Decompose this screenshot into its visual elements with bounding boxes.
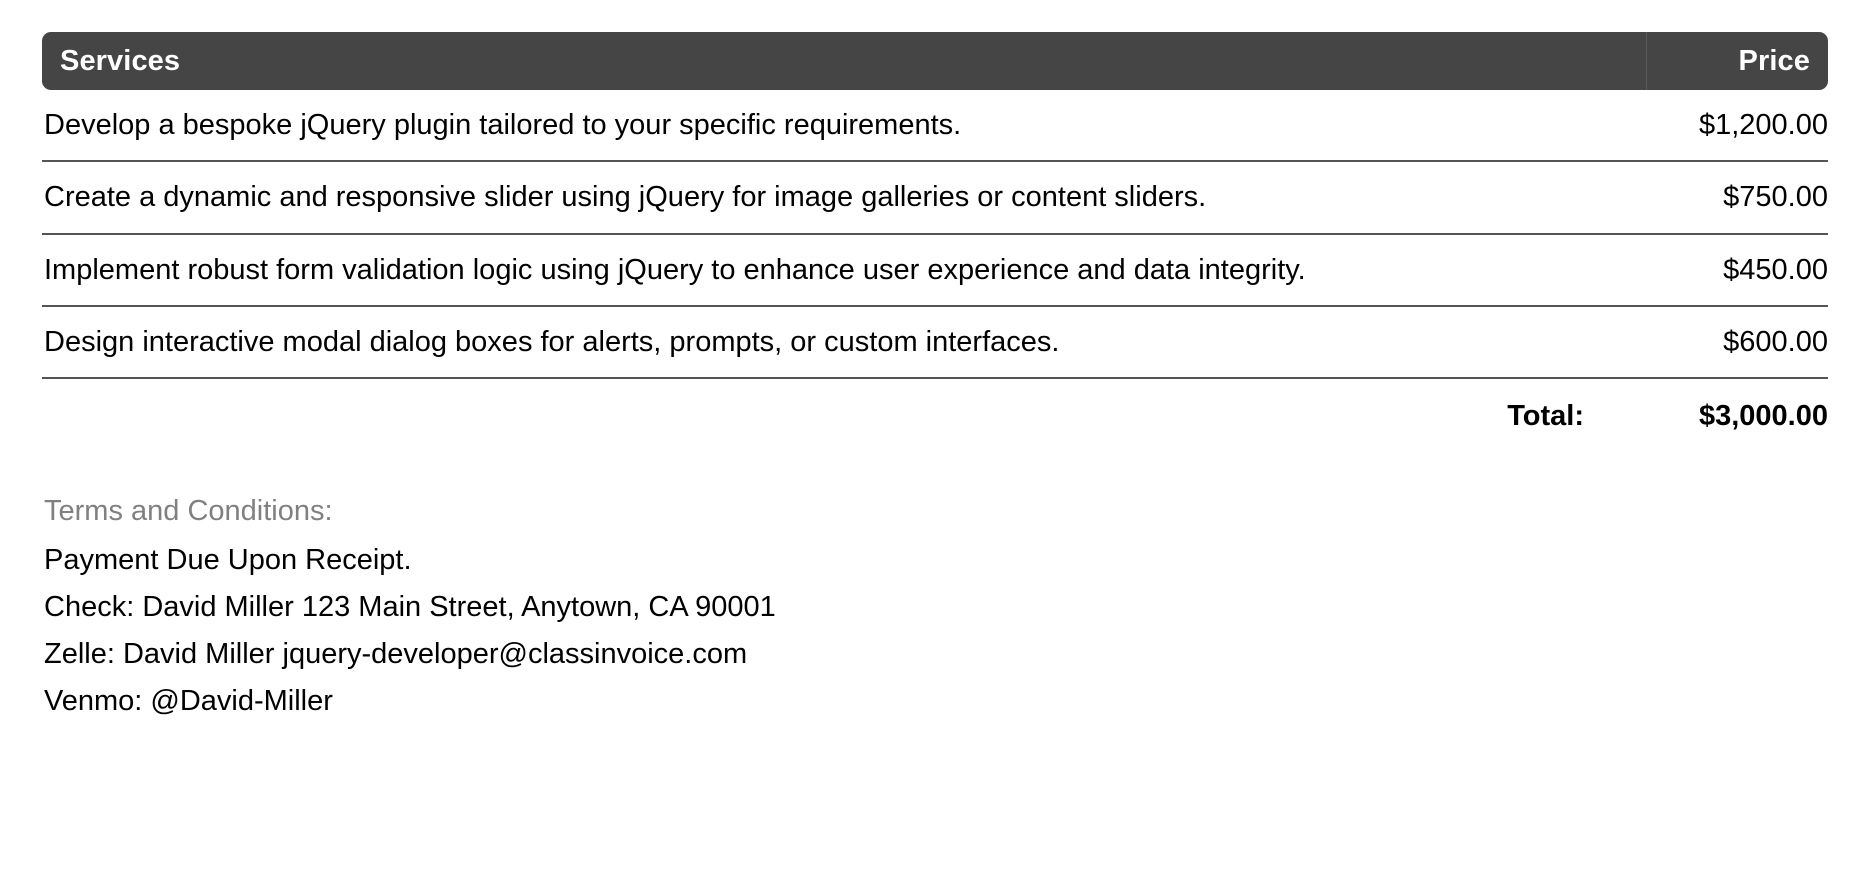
- column-header-services: Services: [42, 32, 1646, 90]
- terms-and-conditions-section: Terms and Conditions: Payment Due Upon R…: [42, 497, 1828, 716]
- service-price: $600.00: [1646, 306, 1828, 378]
- total-label: Total:: [42, 378, 1646, 435]
- table-body: Develop a bespoke jQuery plugin tailored…: [42, 90, 1828, 435]
- terms-line-payment-due: Payment Due Upon Receipt.: [44, 546, 1828, 575]
- table-header-row: Services Price: [42, 32, 1828, 90]
- terms-line-check: Check: David Miller 123 Main Street, Any…: [44, 593, 1828, 622]
- table-header: Services Price: [42, 32, 1828, 90]
- total-row: Total: $3,000.00: [42, 378, 1828, 435]
- table-row: Design interactive modal dialog boxes fo…: [42, 306, 1828, 378]
- service-description: Implement robust form validation logic u…: [42, 234, 1646, 306]
- services-price-table: Services Price Develop a bespoke jQuery …: [42, 32, 1828, 435]
- service-price: $1,200.00: [1646, 90, 1828, 161]
- service-price: $450.00: [1646, 234, 1828, 306]
- table-row: Implement robust form validation logic u…: [42, 234, 1828, 306]
- terms-heading: Terms and Conditions:: [44, 497, 1828, 526]
- service-description: Create a dynamic and responsive slider u…: [42, 161, 1646, 233]
- column-header-price: Price: [1646, 32, 1828, 90]
- terms-line-venmo: Venmo: @David-Miller: [44, 687, 1828, 716]
- total-amount: $3,000.00: [1646, 378, 1828, 435]
- table-row: Create a dynamic and responsive slider u…: [42, 161, 1828, 233]
- service-description: Develop a bespoke jQuery plugin tailored…: [42, 90, 1646, 161]
- terms-line-zelle: Zelle: David Miller jquery-developer@cla…: [44, 640, 1828, 669]
- service-price: $750.00: [1646, 161, 1828, 233]
- invoice-page: Services Price Develop a bespoke jQuery …: [0, 0, 1868, 870]
- service-description: Design interactive modal dialog boxes fo…: [42, 306, 1646, 378]
- table-row: Develop a bespoke jQuery plugin tailored…: [42, 90, 1828, 161]
